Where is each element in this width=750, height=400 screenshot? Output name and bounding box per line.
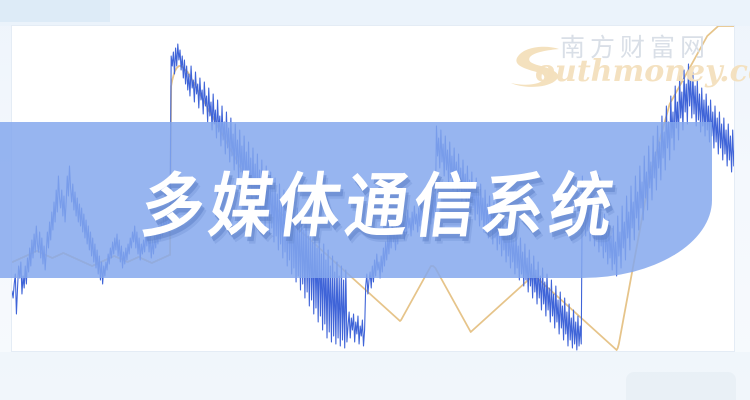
bottom-right-chip xyxy=(626,372,736,400)
screenshot-stage: 多媒体通信系统 南方财富网 outhmoney.com xyxy=(0,0,750,400)
backdrop-top-left-patch xyxy=(0,0,110,22)
title-container: 多媒体通信系统 xyxy=(0,122,750,278)
page-title: 多媒体通信系统 xyxy=(125,150,625,251)
backdrop-top-band xyxy=(0,0,750,26)
